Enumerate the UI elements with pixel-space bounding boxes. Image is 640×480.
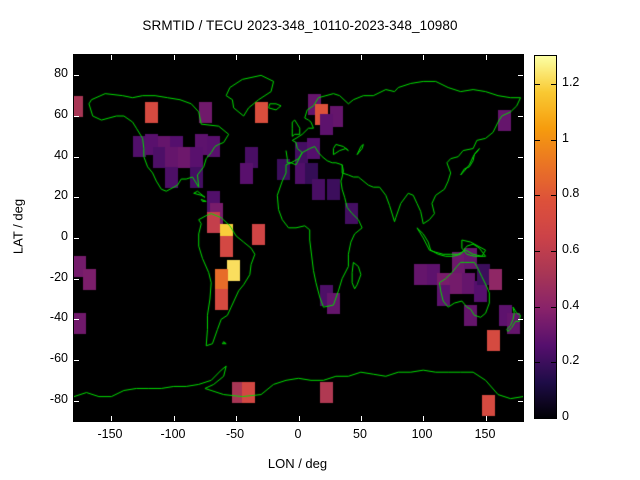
y-tick	[74, 360, 79, 361]
colorbar-tick-label: 1	[562, 131, 602, 145]
y-tick	[518, 401, 523, 402]
y-tick	[74, 157, 79, 158]
y-tick	[518, 360, 523, 361]
y-tick-label: 40	[24, 148, 68, 162]
colorbar-tick-label: 0.6	[562, 242, 602, 256]
y-tick	[518, 238, 523, 239]
colorbar-tick-label: 0	[562, 409, 602, 423]
x-tick-label: -150	[80, 427, 140, 441]
x-tick-label: 0	[268, 427, 328, 441]
colorbar-tick	[551, 418, 556, 419]
colorbar-tick	[551, 362, 556, 363]
x-tick	[299, 416, 300, 421]
x-tick	[111, 55, 112, 60]
colorbar-tick-label: 1.2	[562, 75, 602, 89]
y-tick	[518, 197, 523, 198]
colorbar-tick	[535, 195, 540, 196]
y-tick	[518, 75, 523, 76]
y-tick-label: 60	[24, 107, 68, 121]
y-tick	[518, 157, 523, 158]
x-tick	[486, 416, 487, 421]
colorbar-tick	[551, 140, 556, 141]
chart-root: SRMTID / TECU 2023-348_10110-2023-348_10…	[0, 0, 640, 480]
y-tick-label: -80	[24, 392, 68, 406]
colorbar	[534, 55, 557, 419]
colorbar-tick	[535, 362, 540, 363]
y-tick-label: 20	[24, 188, 68, 202]
y-tick	[74, 401, 79, 402]
colorbar-tick-label: 0.2	[562, 353, 602, 367]
y-tick	[74, 319, 79, 320]
colorbar-tick	[535, 307, 540, 308]
x-tick	[486, 55, 487, 60]
y-tick	[518, 319, 523, 320]
colorbar-gradient	[535, 56, 556, 418]
x-tick	[174, 55, 175, 60]
map-plot-area	[73, 54, 524, 422]
x-tick	[423, 55, 424, 60]
x-tick-label: 150	[455, 427, 515, 441]
y-tick-label: 0	[24, 229, 68, 243]
chart-title: SRMTID / TECU 2023-348_10110-2023-348_10…	[0, 18, 600, 33]
colorbar-tick-label: 0.4	[562, 298, 602, 312]
colorbar-tick	[535, 140, 540, 141]
colorbar-tick	[551, 307, 556, 308]
x-tick	[299, 55, 300, 60]
colorbar-tick	[535, 418, 540, 419]
x-tick-label: -50	[205, 427, 265, 441]
colorbar-tick	[551, 251, 556, 252]
x-tick-label: 50	[330, 427, 390, 441]
y-tick-label: -20	[24, 270, 68, 284]
x-tick	[361, 55, 362, 60]
y-tick	[74, 116, 79, 117]
colorbar-tick	[551, 84, 556, 85]
x-axis-title: LON / deg	[73, 456, 522, 471]
axis-tick-marks	[74, 55, 523, 421]
x-tick	[236, 55, 237, 60]
colorbar-tick	[551, 195, 556, 196]
x-tick-label: 100	[392, 427, 452, 441]
y-tick	[74, 279, 79, 280]
x-tick	[423, 416, 424, 421]
x-tick	[111, 416, 112, 421]
colorbar-tick	[535, 84, 540, 85]
y-tick-label: -60	[24, 351, 68, 365]
colorbar-tick	[535, 251, 540, 252]
y-tick	[518, 279, 523, 280]
x-tick	[236, 416, 237, 421]
y-tick	[74, 238, 79, 239]
y-tick	[74, 75, 79, 76]
y-tick	[74, 197, 79, 198]
y-tick-label: 80	[24, 66, 68, 80]
colorbar-tick-label: 0.8	[562, 186, 602, 200]
x-tick	[361, 416, 362, 421]
y-tick-label: -40	[24, 310, 68, 324]
x-tick-label: -100	[143, 427, 203, 441]
y-tick	[518, 116, 523, 117]
x-tick	[174, 416, 175, 421]
